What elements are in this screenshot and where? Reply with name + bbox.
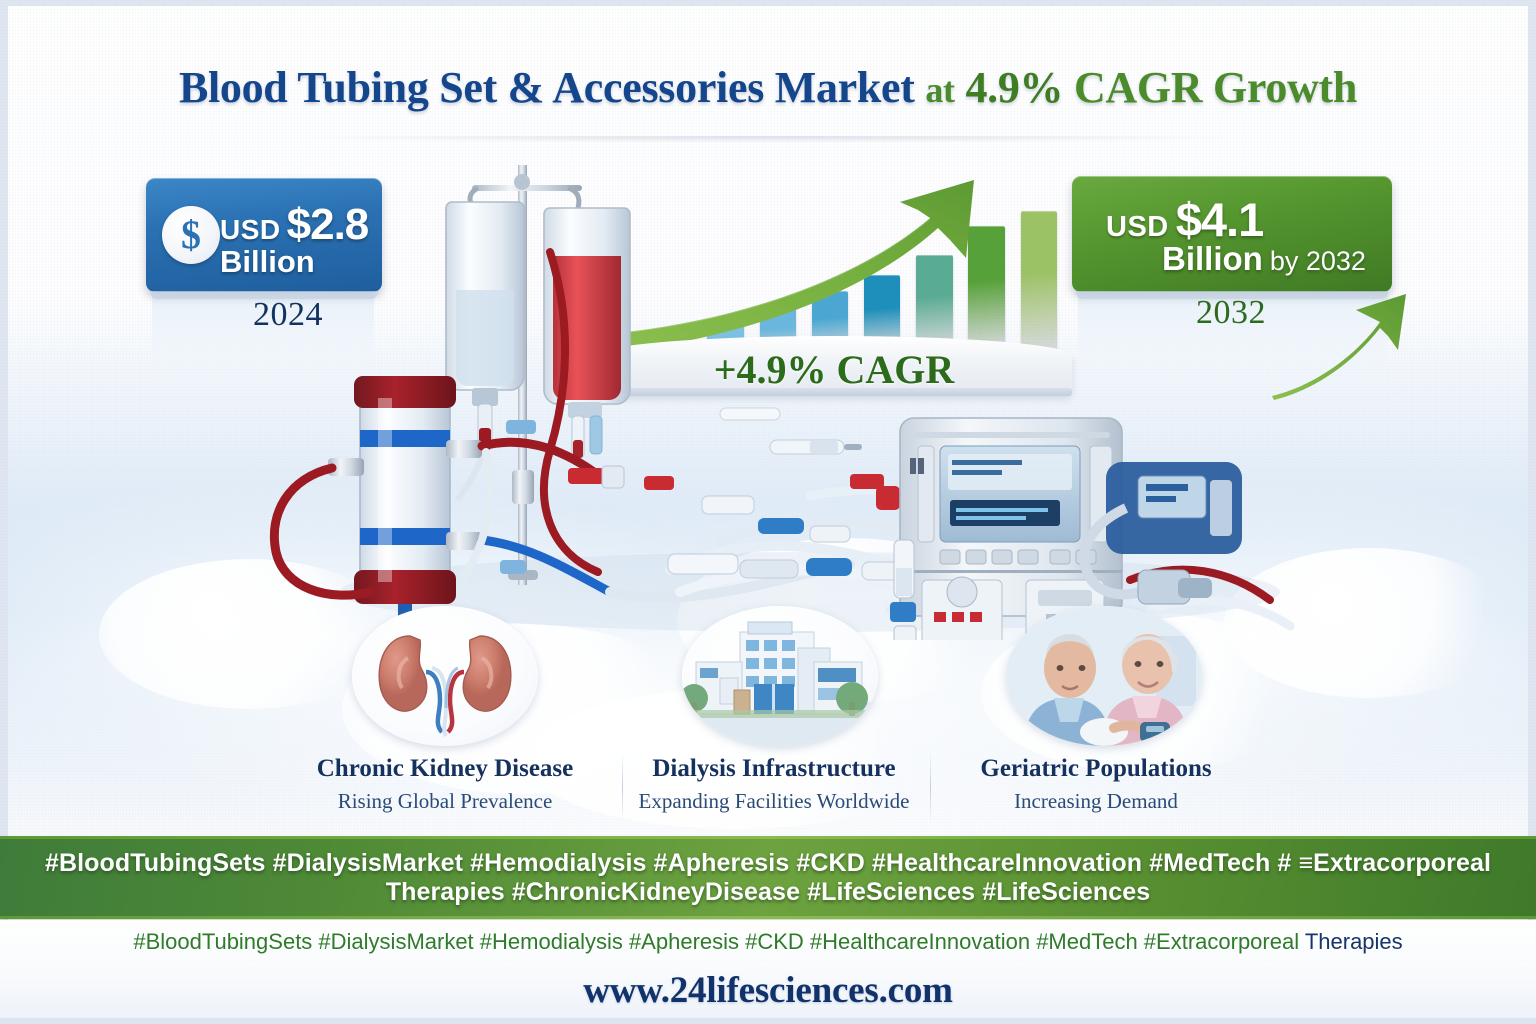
title-at: at	[925, 70, 954, 110]
hashtag-secondary-green: #BloodTubingSets #DialysisMarket #Hemodi…	[133, 929, 1299, 954]
hashtag-row-secondary-text: #BloodTubingSets #DialysisMarket #Hemodi…	[133, 929, 1402, 955]
hashtag-line-2: Therapies #ChronicKidneyDisease #LifeSci…	[386, 878, 1151, 906]
feature-subtitle-2: Expanding Facilities Worldwide	[624, 789, 924, 814]
hashtag-banner: #BloodTubingSets #DialysisMarket #Hemodi…	[0, 838, 1536, 918]
feature-divider-1	[622, 752, 623, 822]
medical-accessories-icon	[720, 408, 862, 454]
website-url-bar[interactable]: www.24lifesciences.com	[0, 962, 1536, 1018]
hashtag-row-secondary: #BloodTubingSets #DialysisMarket #Hemodi…	[0, 920, 1536, 964]
feature-icon-1[interactable]	[352, 606, 538, 746]
hashtag-banner-text: #BloodTubingSets #DialysisMarket #Hemodi…	[40, 849, 1496, 908]
hashtag-line-1: #BloodTubingSets #DialysisMarket #Hemodi…	[45, 849, 1491, 877]
feature-icon-2[interactable]	[682, 606, 878, 746]
elderly-couple-icon	[1006, 606, 1202, 746]
feature-title-2: Dialysis Infrastructure	[624, 755, 924, 783]
title-cagr-value: 4.9%	[965, 63, 1063, 112]
feature-label-3: Geriatric Populations Increasing Demand	[946, 755, 1246, 814]
banner-bottom-rule	[0, 916, 1536, 919]
feature-title-3: Geriatric Populations	[946, 755, 1246, 783]
feature-title-1: Chronic Kidney Disease	[295, 755, 595, 783]
infographic-canvas: Blood Tubing Set & Accessories Market at…	[0, 0, 1536, 1024]
title-cagr-label: CAGR Growth	[1074, 63, 1357, 112]
hospital-icon	[682, 606, 878, 746]
kidneys-icon	[352, 606, 538, 746]
banner-top-rule	[0, 836, 1536, 839]
website-url[interactable]: www.24lifesciences.com	[583, 969, 953, 1012]
feature-divider-2	[930, 752, 931, 822]
medical-equipment-illustration	[250, 140, 1360, 640]
feature-subtitle-1: Rising Global Prevalence	[295, 789, 595, 814]
feature-label-2: Dialysis Infrastructure Expanding Facili…	[624, 755, 924, 814]
feature-label-1: Chronic Kidney Disease Rising Global Pre…	[295, 755, 595, 814]
feature-icon-3[interactable]	[1006, 606, 1202, 746]
feature-subtitle-3: Increasing Demand	[946, 789, 1246, 814]
hashtag-secondary-navy: Therapies	[1305, 929, 1403, 954]
page-title: Blood Tubing Set & Accessories Market at…	[0, 62, 1536, 113]
dollar-sign-glyph: $	[181, 215, 201, 255]
title-main: Blood Tubing Set & Accessories Market	[179, 63, 915, 112]
dollar-coin-icon: $	[162, 206, 220, 264]
